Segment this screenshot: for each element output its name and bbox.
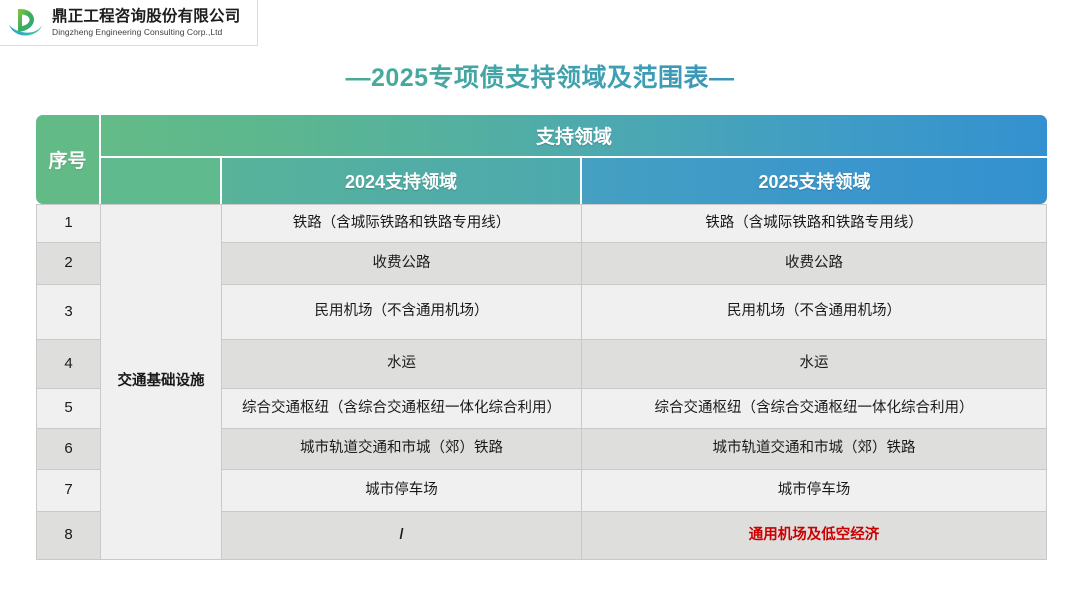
brand-bar: 鼎正工程咨询股份有限公司 Dingzheng Engineering Consu… xyxy=(0,0,258,46)
cell-2025: 城市轨道交通和市城（郊）铁路 xyxy=(582,429,1047,470)
table-header-row-2: 2024支持领域 2025支持领域 xyxy=(36,158,1047,204)
page-title: —2025专项债支持领域及范围表— xyxy=(0,58,1080,94)
header-col-2025: 2025支持领域 xyxy=(582,158,1047,204)
cell-2025: 收费公路 xyxy=(582,243,1047,285)
table-header-row-1: 序号 支持领域 xyxy=(36,115,1047,158)
cell-seq: 7 xyxy=(36,470,101,512)
header-seq: 序号 xyxy=(36,115,101,204)
cell-2024: 水运 xyxy=(222,340,582,389)
cell-seq: 1 xyxy=(36,204,101,243)
cell-2025: 铁路（含城际铁路和铁路专用线） xyxy=(582,204,1047,243)
cell-2025: 水运 xyxy=(582,340,1047,389)
dingzheng-d-logo-icon xyxy=(6,4,46,42)
brand-name-en: Dingzheng Engineering Consulting Corp.,L… xyxy=(52,27,240,38)
cell-2024: 民用机场（不含通用机场） xyxy=(222,285,582,340)
cell-2024: 城市停车场 xyxy=(222,470,582,512)
table-row: 1交通基础设施铁路（含城际铁路和铁路专用线）铁路（含城际铁路和铁路专用线） xyxy=(36,204,1047,243)
support-scope-table: 序号 支持领域 2024支持领域 2025支持领域 1交通基础设施铁路（含城际铁… xyxy=(36,115,1047,560)
cell-category: 交通基础设施 xyxy=(101,204,222,560)
cell-2025: 民用机场（不含通用机场） xyxy=(582,285,1047,340)
cell-2024: 综合交通枢纽（含综合交通枢纽一体化综合利用） xyxy=(222,389,582,429)
cell-seq: 8 xyxy=(36,512,101,560)
table-head: 序号 支持领域 2024支持领域 2025支持领域 xyxy=(36,115,1047,204)
cell-seq: 5 xyxy=(36,389,101,429)
cell-seq: 4 xyxy=(36,340,101,389)
table-body: 1交通基础设施铁路（含城际铁路和铁路专用线）铁路（含城际铁路和铁路专用线）2收费… xyxy=(36,204,1047,560)
cell-seq: 3 xyxy=(36,285,101,340)
header-col-2024: 2024支持领域 xyxy=(222,158,582,204)
cell-2025: 通用机场及低空经济 xyxy=(582,512,1047,560)
cell-2024: / xyxy=(222,512,582,560)
brand-text: 鼎正工程咨询股份有限公司 Dingzheng Engineering Consu… xyxy=(52,8,240,38)
brand-name-cn: 鼎正工程咨询股份有限公司 xyxy=(52,8,240,26)
header-category-blank xyxy=(101,158,222,204)
cell-2025: 综合交通枢纽（含综合交通枢纽一体化综合利用） xyxy=(582,389,1047,429)
cell-2024: 铁路（含城际铁路和铁路专用线） xyxy=(222,204,582,243)
cell-2025: 城市停车场 xyxy=(582,470,1047,512)
cell-2024: 收费公路 xyxy=(222,243,582,285)
cell-seq: 6 xyxy=(36,429,101,470)
header-scope-group: 支持领域 xyxy=(101,115,1047,158)
cell-2024: 城市轨道交通和市城（郊）铁路 xyxy=(222,429,582,470)
cell-seq: 2 xyxy=(36,243,101,285)
